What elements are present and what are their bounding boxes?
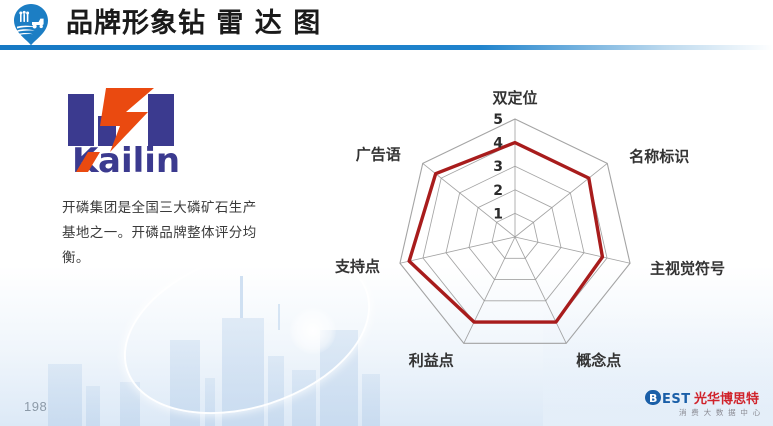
svg-text:ailin: ailin [98, 141, 180, 176]
radar-category-label: 概念点 [576, 351, 621, 369]
svg-text:B: B [649, 392, 657, 405]
slide-header: 品牌形象钻 雷 达 图 [0, 0, 773, 50]
header-underline [0, 45, 773, 50]
radar-category-label: 利益点 [409, 351, 454, 369]
page-title: 品牌形象钻 雷 达 图 [66, 6, 321, 42]
radar-tick-label: 2 [493, 183, 503, 199]
radar-category-label: 名称标识 [629, 147, 689, 165]
svg-text:EST: EST [662, 392, 691, 407]
skyline-building [362, 374, 380, 426]
radar-category-label: 支持点 [334, 257, 380, 275]
radar-category-label: 双定位 [492, 89, 537, 107]
kailin-logo: K ailin [62, 86, 212, 176]
radar-series-polygon [409, 143, 602, 322]
slide-root: 品牌形象钻 雷 达 图 K ailin 开磷集团是全国三大磷矿石生产基地之一。开… [0, 0, 773, 426]
best-consumer-bigdata-logo: B EST 光华博思特 消 费 大 数 据 中 心 [645, 388, 763, 420]
svg-text:光华博思特: 光华博思特 [693, 391, 759, 407]
skyline-building [86, 386, 100, 426]
page-number: 198 [24, 399, 47, 414]
skyline-building [48, 364, 82, 426]
radar-tick-label: 1 [493, 206, 503, 222]
radar-axis-spoke [464, 237, 515, 343]
brand-image-radar-chart: 12345双定位名称标识主视觉符号概念点利益点支持点广告语 [330, 70, 773, 370]
radar-category-label: 广告语 [356, 145, 401, 163]
radar-tick-label: 5 [493, 112, 503, 128]
location-pin-farm-icon [8, 2, 54, 48]
radar-axis-spoke [515, 237, 566, 343]
brand-description: 开磷集团是全国三大磷矿石生产基地之一。开磷品牌整体评分均衡。 [62, 196, 257, 271]
svg-text:消 费 大 数 据 中 心: 消 费 大 数 据 中 心 [679, 407, 761, 417]
radar-tick-label: 3 [493, 159, 503, 175]
radar-category-label: 主视觉符号 [650, 259, 725, 277]
radar-tick-label: 4 [493, 136, 503, 152]
